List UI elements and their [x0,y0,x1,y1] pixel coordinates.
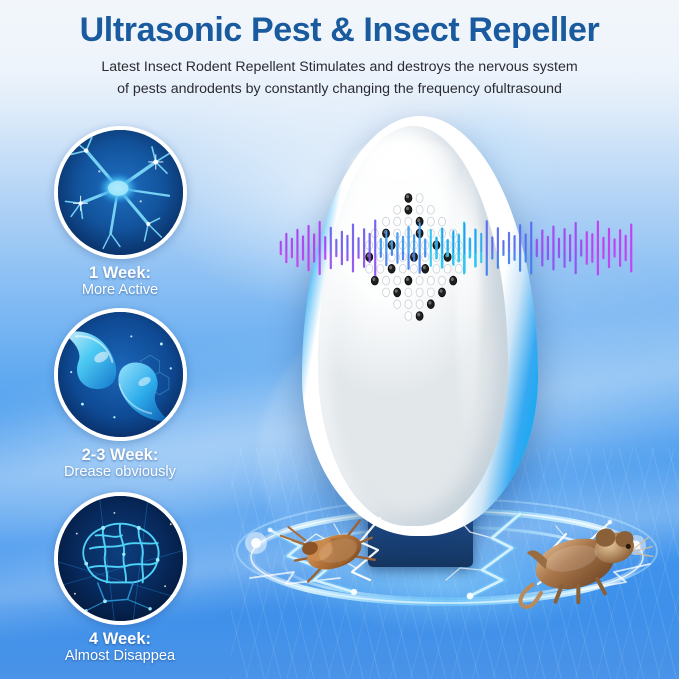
subtitle-line-2: of pests androdents by constantly changi… [117,81,562,97]
badge-week: 2-3 Week: [52,446,188,464]
badge-week: 4 Week: [52,630,188,648]
cockroach-icon [268,508,400,594]
timeline-badge-4-week: 4 Week: Almost Disappea [52,492,188,665]
page-title: Ultrasonic Pest & Insect Repeller [0,0,679,49]
synapse-icon [54,308,187,441]
badge-week: 1 Week: [52,264,188,282]
badge-description: Almost Disappea [52,648,188,664]
neuron-icon [54,126,187,259]
brain-icon [54,492,187,625]
timeline-badge-2-3-week: 2-3 Week: Drease obviously [52,308,188,481]
badge-description: More Active [52,282,188,298]
header: Ultrasonic Pest & Insect Repeller Latest… [0,0,679,100]
badge-label: 2-3 Week: Drease obviously [52,446,188,481]
badge-label: 1 Week: More Active [52,264,188,299]
timeline-badge-1-week: 1 Week: More Active [52,126,188,299]
mouse-icon [506,506,658,612]
subtitle: Latest Insect Rodent Repellent Stimulate… [0,56,679,100]
product-banner: Ultrasonic Pest & Insect Repeller Latest… [0,0,679,679]
badge-description: Drease obviously [52,464,188,480]
subtitle-line-1: Latest Insect Rodent Repellent Stimulate… [101,59,577,75]
waveform-right [434,212,634,284]
badge-label: 4 Week: Almost Disappea [52,630,188,665]
